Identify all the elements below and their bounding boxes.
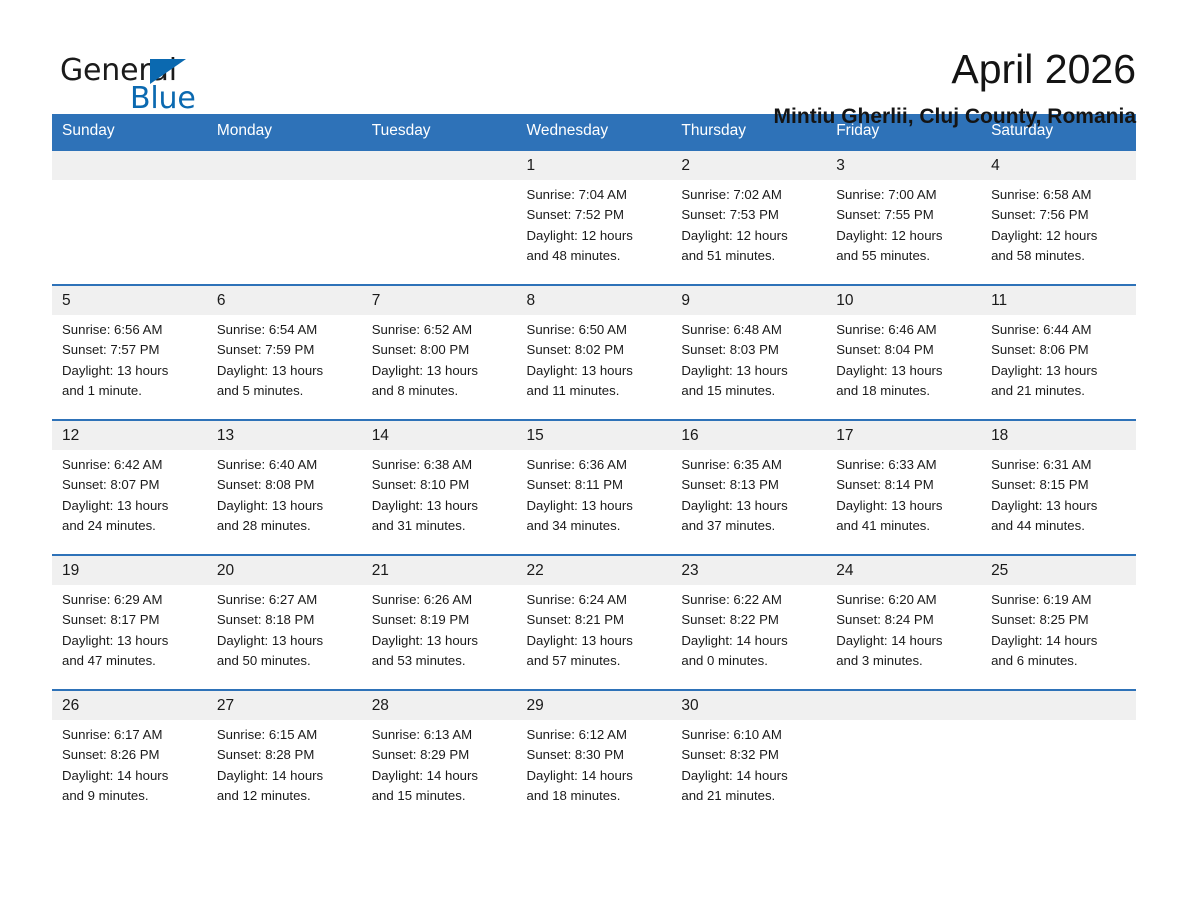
day-number: 21 [362,556,517,585]
day-number: 26 [52,691,207,720]
sunrise-text: Sunrise: 6:44 AM [991,320,1126,340]
day-info: Sunrise: 6:40 AMSunset: 8:08 PMDaylight:… [207,450,362,537]
day-info: Sunrise: 6:35 AMSunset: 8:13 PMDaylight:… [671,450,826,537]
daylight-text-line1: Daylight: 14 hours [527,766,662,786]
calendar-day-cell[interactable]: 27Sunrise: 6:15 AMSunset: 8:28 PMDayligh… [207,690,362,825]
daylight-text-line2: and 6 minutes. [991,651,1126,671]
day-number: 3 [826,151,981,180]
day-number: 18 [981,421,1136,450]
calendar-day-cell-empty [207,150,362,285]
sunset-text: Sunset: 8:06 PM [991,340,1126,360]
day-info: Sunrise: 6:31 AMSunset: 8:15 PMDaylight:… [981,450,1136,537]
sunrise-text: Sunrise: 6:22 AM [681,590,816,610]
calendar-day-cell[interactable]: 18Sunrise: 6:31 AMSunset: 8:15 PMDayligh… [981,420,1136,555]
logo-text-blue: Blue [130,84,196,114]
day-info: Sunrise: 7:02 AMSunset: 7:53 PMDaylight:… [671,180,826,267]
daylight-text-line2: and 8 minutes. [372,381,507,401]
daylight-text-line2: and 1 minute. [62,381,197,401]
sunset-text: Sunset: 8:08 PM [217,475,352,495]
sunset-text: Sunset: 7:57 PM [62,340,197,360]
title-block: April 2026 Mintiu Gherlii, Cluj County, … [774,48,1136,129]
calendar-day-cell-empty [362,150,517,285]
daylight-text-line2: and 18 minutes. [836,381,971,401]
day-number: 5 [52,286,207,315]
daylight-text-line2: and 44 minutes. [991,516,1126,536]
calendar-day-cell[interactable]: 25Sunrise: 6:19 AMSunset: 8:25 PMDayligh… [981,555,1136,690]
day-number: 12 [52,421,207,450]
sunrise-text: Sunrise: 6:31 AM [991,455,1126,475]
day-info: Sunrise: 6:29 AMSunset: 8:17 PMDaylight:… [52,585,207,672]
sunset-text: Sunset: 8:28 PM [217,745,352,765]
day-info: Sunrise: 6:26 AMSunset: 8:19 PMDaylight:… [362,585,517,672]
sunset-text: Sunset: 8:18 PM [217,610,352,630]
sunset-text: Sunset: 8:14 PM [836,475,971,495]
day-info: Sunrise: 6:15 AMSunset: 8:28 PMDaylight:… [207,720,362,807]
daylight-text-line2: and 48 minutes. [527,246,662,266]
daylight-text-line2: and 3 minutes. [836,651,971,671]
daylight-text-line1: Daylight: 13 hours [681,361,816,381]
day-number: 25 [981,556,1136,585]
daylight-text-line1: Daylight: 14 hours [217,766,352,786]
sunrise-text: Sunrise: 6:50 AM [527,320,662,340]
daylight-text-line1: Daylight: 12 hours [991,226,1126,246]
calendar-day-cell[interactable]: 10Sunrise: 6:46 AMSunset: 8:04 PMDayligh… [826,285,981,420]
sunset-text: Sunset: 8:30 PM [527,745,662,765]
day-number: 19 [52,556,207,585]
daylight-text-line2: and 15 minutes. [681,381,816,401]
day-number: 16 [671,421,826,450]
daylight-text-line1: Daylight: 14 hours [681,766,816,786]
day-number: 4 [981,151,1136,180]
sunrise-text: Sunrise: 7:04 AM [527,185,662,205]
daylight-text-line2: and 12 minutes. [217,786,352,806]
daylight-text-line1: Daylight: 13 hours [62,361,197,381]
day-number: 23 [671,556,826,585]
calendar-day-cell[interactable]: 30Sunrise: 6:10 AMSunset: 8:32 PMDayligh… [671,690,826,825]
calendar-day-cell[interactable]: 26Sunrise: 6:17 AMSunset: 8:26 PMDayligh… [52,690,207,825]
daylight-text-line1: Daylight: 13 hours [681,496,816,516]
sunset-text: Sunset: 8:32 PM [681,745,816,765]
day-info: Sunrise: 6:56 AMSunset: 7:57 PMDaylight:… [52,315,207,402]
day-number: 9 [671,286,826,315]
day-info: Sunrise: 6:27 AMSunset: 8:18 PMDaylight:… [207,585,362,672]
calendar-body: 1Sunrise: 7:04 AMSunset: 7:52 PMDaylight… [52,150,1136,825]
page-header: General Blue April 2026 Mintiu Gherlii, … [52,0,1136,96]
daylight-text-line1: Daylight: 13 hours [372,361,507,381]
sunset-text: Sunset: 8:07 PM [62,475,197,495]
daylight-text-line2: and 34 minutes. [527,516,662,536]
calendar-day-cell[interactable]: 22Sunrise: 6:24 AMSunset: 8:21 PMDayligh… [517,555,672,690]
calendar-day-cell-empty [981,690,1136,825]
daylight-text-line2: and 24 minutes. [62,516,197,536]
sunset-text: Sunset: 8:02 PM [527,340,662,360]
sunrise-text: Sunrise: 6:10 AM [681,725,816,745]
day-number [207,151,362,180]
daylight-text-line1: Daylight: 12 hours [836,226,971,246]
daylight-text-line2: and 50 minutes. [217,651,352,671]
day-number: 2 [671,151,826,180]
calendar-day-cell[interactable]: 11Sunrise: 6:44 AMSunset: 8:06 PMDayligh… [981,285,1136,420]
daylight-text-line1: Daylight: 14 hours [836,631,971,651]
sunset-text: Sunset: 8:17 PM [62,610,197,630]
day-info: Sunrise: 6:44 AMSunset: 8:06 PMDaylight:… [981,315,1136,402]
daylight-text-line2: and 55 minutes. [836,246,971,266]
sunrise-text: Sunrise: 6:35 AM [681,455,816,475]
daylight-text-line1: Daylight: 14 hours [62,766,197,786]
page-title: April 2026 [774,48,1136,91]
generalblue-logo[interactable]: General Blue [52,48,212,122]
sunset-text: Sunset: 7:59 PM [217,340,352,360]
daylight-text-line1: Daylight: 13 hours [372,631,507,651]
daylight-text-line2: and 9 minutes. [62,786,197,806]
calendar-day-cell[interactable]: 9Sunrise: 6:48 AMSunset: 8:03 PMDaylight… [671,285,826,420]
daylight-text-line2: and 11 minutes. [527,381,662,401]
calendar-grid: Sunday Monday Tuesday Wednesday Thursday… [52,114,1136,825]
day-number: 8 [517,286,672,315]
sunrise-text: Sunrise: 6:19 AM [991,590,1126,610]
day-info: Sunrise: 6:46 AMSunset: 8:04 PMDaylight:… [826,315,981,402]
sunrise-text: Sunrise: 7:02 AM [681,185,816,205]
day-info: Sunrise: 6:38 AMSunset: 8:10 PMDaylight:… [362,450,517,537]
day-info: Sunrise: 6:54 AMSunset: 7:59 PMDaylight:… [207,315,362,402]
day-info: Sunrise: 6:22 AMSunset: 8:22 PMDaylight:… [671,585,826,672]
daylight-text-line1: Daylight: 12 hours [681,226,816,246]
day-number [362,151,517,180]
day-number: 1 [517,151,672,180]
sunrise-text: Sunrise: 6:38 AM [372,455,507,475]
daylight-text-line1: Daylight: 13 hours [991,361,1126,381]
sunset-text: Sunset: 8:11 PM [527,475,662,495]
sunrise-text: Sunrise: 6:52 AM [372,320,507,340]
sunrise-text: Sunrise: 6:26 AM [372,590,507,610]
day-number [826,691,981,720]
calendar-day-cell[interactable]: 28Sunrise: 6:13 AMSunset: 8:29 PMDayligh… [362,690,517,825]
daylight-text-line2: and 53 minutes. [372,651,507,671]
day-info: Sunrise: 6:33 AMSunset: 8:14 PMDaylight:… [826,450,981,537]
day-number: 27 [207,691,362,720]
day-info: Sunrise: 6:24 AMSunset: 8:21 PMDaylight:… [517,585,672,672]
sunrise-text: Sunrise: 6:24 AM [527,590,662,610]
sunrise-text: Sunrise: 6:27 AM [217,590,352,610]
sunset-text: Sunset: 8:24 PM [836,610,971,630]
sunset-text: Sunset: 7:55 PM [836,205,971,225]
calendar-day-cell[interactable]: 6Sunrise: 6:54 AMSunset: 7:59 PMDaylight… [207,285,362,420]
sunrise-text: Sunrise: 6:17 AM [62,725,197,745]
calendar-page: General Blue April 2026 Mintiu Gherlii, … [0,0,1188,918]
daylight-text-line1: Daylight: 13 hours [217,496,352,516]
daylight-text-line2: and 5 minutes. [217,381,352,401]
calendar-day-cell[interactable]: 5Sunrise: 6:56 AMSunset: 7:57 PMDaylight… [52,285,207,420]
sunset-text: Sunset: 8:22 PM [681,610,816,630]
daylight-text-line2: and 28 minutes. [217,516,352,536]
weekday-header-wednesday: Wednesday [517,114,672,150]
day-number: 11 [981,286,1136,315]
calendar-week-row: 12Sunrise: 6:42 AMSunset: 8:07 PMDayligh… [52,420,1136,555]
day-info: Sunrise: 6:48 AMSunset: 8:03 PMDaylight:… [671,315,826,402]
calendar-day-cell[interactable]: 3Sunrise: 7:00 AMSunset: 7:55 PMDaylight… [826,150,981,285]
sunset-text: Sunset: 8:00 PM [372,340,507,360]
daylight-text-line1: Daylight: 14 hours [991,631,1126,651]
daylight-text-line2: and 18 minutes. [527,786,662,806]
daylight-text-line1: Daylight: 13 hours [836,361,971,381]
weekday-header-tuesday: Tuesday [362,114,517,150]
daylight-text-line1: Daylight: 13 hours [527,631,662,651]
sunrise-text: Sunrise: 6:33 AM [836,455,971,475]
sunset-text: Sunset: 7:52 PM [527,205,662,225]
calendar-day-cell[interactable]: 23Sunrise: 6:22 AMSunset: 8:22 PMDayligh… [671,555,826,690]
sunrise-text: Sunrise: 6:58 AM [991,185,1126,205]
calendar-day-cell[interactable]: 29Sunrise: 6:12 AMSunset: 8:30 PMDayligh… [517,690,672,825]
sunrise-text: Sunrise: 6:15 AM [217,725,352,745]
day-info: Sunrise: 6:36 AMSunset: 8:11 PMDaylight:… [517,450,672,537]
day-info: Sunrise: 6:17 AMSunset: 8:26 PMDaylight:… [52,720,207,807]
calendar-day-cell[interactable]: 14Sunrise: 6:38 AMSunset: 8:10 PMDayligh… [362,420,517,555]
daylight-text-line1: Daylight: 13 hours [836,496,971,516]
calendar-day-cell[interactable]: 17Sunrise: 6:33 AMSunset: 8:14 PMDayligh… [826,420,981,555]
daylight-text-line1: Daylight: 13 hours [991,496,1126,516]
weekday-header-monday: Monday [207,114,362,150]
daylight-text-line1: Daylight: 14 hours [681,631,816,651]
day-number [981,691,1136,720]
calendar-week-row: 19Sunrise: 6:29 AMSunset: 8:17 PMDayligh… [52,555,1136,690]
day-number: 13 [207,421,362,450]
day-number: 29 [517,691,672,720]
sunset-text: Sunset: 8:15 PM [991,475,1126,495]
day-info: Sunrise: 6:42 AMSunset: 8:07 PMDaylight:… [52,450,207,537]
sunset-text: Sunset: 8:26 PM [62,745,197,765]
daylight-text-line2: and 0 minutes. [681,651,816,671]
calendar-day-cell[interactable]: 7Sunrise: 6:52 AMSunset: 8:00 PMDaylight… [362,285,517,420]
sunrise-text: Sunrise: 6:29 AM [62,590,197,610]
calendar-day-cell[interactable]: 12Sunrise: 6:42 AMSunset: 8:07 PMDayligh… [52,420,207,555]
daylight-text-line1: Daylight: 13 hours [62,496,197,516]
sunrise-text: Sunrise: 6:54 AM [217,320,352,340]
sunrise-text: Sunrise: 6:42 AM [62,455,197,475]
day-number: 10 [826,286,981,315]
day-number: 22 [517,556,672,585]
calendar-day-cell[interactable]: 24Sunrise: 6:20 AMSunset: 8:24 PMDayligh… [826,555,981,690]
daylight-text-line2: and 31 minutes. [372,516,507,536]
sunrise-text: Sunrise: 6:40 AM [217,455,352,475]
calendar-day-cell[interactable]: 16Sunrise: 6:35 AMSunset: 8:13 PMDayligh… [671,420,826,555]
sunset-text: Sunset: 8:25 PM [991,610,1126,630]
calendar-day-cell[interactable]: 4Sunrise: 6:58 AMSunset: 7:56 PMDaylight… [981,150,1136,285]
daylight-text-line2: and 51 minutes. [681,246,816,266]
daylight-text-line2: and 15 minutes. [372,786,507,806]
calendar-week-row: 1Sunrise: 7:04 AMSunset: 7:52 PMDaylight… [52,150,1136,285]
calendar-day-cell[interactable]: 13Sunrise: 6:40 AMSunset: 8:08 PMDayligh… [207,420,362,555]
sunrise-text: Sunrise: 6:48 AM [681,320,816,340]
day-number: 15 [517,421,672,450]
day-number: 28 [362,691,517,720]
sunset-text: Sunset: 8:21 PM [527,610,662,630]
day-number: 30 [671,691,826,720]
daylight-text-line2: and 37 minutes. [681,516,816,536]
daylight-text-line2: and 41 minutes. [836,516,971,536]
calendar-day-cell[interactable]: 20Sunrise: 6:27 AMSunset: 8:18 PMDayligh… [207,555,362,690]
daylight-text-line1: Daylight: 13 hours [62,631,197,651]
daylight-text-line2: and 47 minutes. [62,651,197,671]
sunset-text: Sunset: 8:19 PM [372,610,507,630]
sunrise-text: Sunrise: 6:12 AM [527,725,662,745]
calendar-day-cell[interactable]: 21Sunrise: 6:26 AMSunset: 8:19 PMDayligh… [362,555,517,690]
day-info: Sunrise: 6:10 AMSunset: 8:32 PMDaylight:… [671,720,826,807]
day-info: Sunrise: 6:12 AMSunset: 8:30 PMDaylight:… [517,720,672,807]
day-number: 20 [207,556,362,585]
sunrise-text: Sunrise: 6:56 AM [62,320,197,340]
calendar-day-cell[interactable]: 8Sunrise: 6:50 AMSunset: 8:02 PMDaylight… [517,285,672,420]
day-info: Sunrise: 6:50 AMSunset: 8:02 PMDaylight:… [517,315,672,402]
calendar-day-cell[interactable]: 1Sunrise: 7:04 AMSunset: 7:52 PMDaylight… [517,150,672,285]
calendar-day-cell[interactable]: 19Sunrise: 6:29 AMSunset: 8:17 PMDayligh… [52,555,207,690]
calendar-week-row: 26Sunrise: 6:17 AMSunset: 8:26 PMDayligh… [52,690,1136,825]
sunset-text: Sunset: 7:56 PM [991,205,1126,225]
day-number: 17 [826,421,981,450]
calendar-day-cell-empty [52,150,207,285]
sunrise-text: Sunrise: 6:13 AM [372,725,507,745]
sunset-text: Sunset: 7:53 PM [681,205,816,225]
daylight-text-line1: Daylight: 13 hours [372,496,507,516]
daylight-text-line1: Daylight: 13 hours [527,496,662,516]
day-info: Sunrise: 6:19 AMSunset: 8:25 PMDaylight:… [981,585,1136,672]
day-number: 7 [362,286,517,315]
day-number [52,151,207,180]
daylight-text-line2: and 58 minutes. [991,246,1126,266]
sunset-text: Sunset: 8:29 PM [372,745,507,765]
calendar-day-cell-empty [826,690,981,825]
sunrise-text: Sunrise: 6:20 AM [836,590,971,610]
sunset-text: Sunset: 8:04 PM [836,340,971,360]
calendar-day-cell[interactable]: 15Sunrise: 6:36 AMSunset: 8:11 PMDayligh… [517,420,672,555]
daylight-text-line1: Daylight: 13 hours [217,361,352,381]
day-info: Sunrise: 7:04 AMSunset: 7:52 PMDaylight:… [517,180,672,267]
calendar-week-row: 5Sunrise: 6:56 AMSunset: 7:57 PMDaylight… [52,285,1136,420]
daylight-text-line1: Daylight: 13 hours [217,631,352,651]
sunset-text: Sunset: 8:10 PM [372,475,507,495]
day-number: 6 [207,286,362,315]
day-info: Sunrise: 6:13 AMSunset: 8:29 PMDaylight:… [362,720,517,807]
sunrise-text: Sunrise: 6:36 AM [527,455,662,475]
daylight-text-line2: and 21 minutes. [991,381,1126,401]
day-info: Sunrise: 6:52 AMSunset: 8:00 PMDaylight:… [362,315,517,402]
day-number: 24 [826,556,981,585]
daylight-text-line1: Daylight: 13 hours [527,361,662,381]
daylight-text-line2: and 21 minutes. [681,786,816,806]
sunrise-text: Sunrise: 6:46 AM [836,320,971,340]
day-info: Sunrise: 6:20 AMSunset: 8:24 PMDaylight:… [826,585,981,672]
sunset-text: Sunset: 8:13 PM [681,475,816,495]
sunset-text: Sunset: 8:03 PM [681,340,816,360]
daylight-text-line1: Daylight: 12 hours [527,226,662,246]
day-info: Sunrise: 6:58 AMSunset: 7:56 PMDaylight:… [981,180,1136,267]
day-number: 14 [362,421,517,450]
day-info: Sunrise: 7:00 AMSunset: 7:55 PMDaylight:… [826,180,981,267]
daylight-text-line1: Daylight: 14 hours [372,766,507,786]
sunrise-text: Sunrise: 7:00 AM [836,185,971,205]
location-subtitle: Mintiu Gherlii, Cluj County, Romania [774,105,1136,129]
calendar-day-cell[interactable]: 2Sunrise: 7:02 AMSunset: 7:53 PMDaylight… [671,150,826,285]
daylight-text-line2: and 57 minutes. [527,651,662,671]
